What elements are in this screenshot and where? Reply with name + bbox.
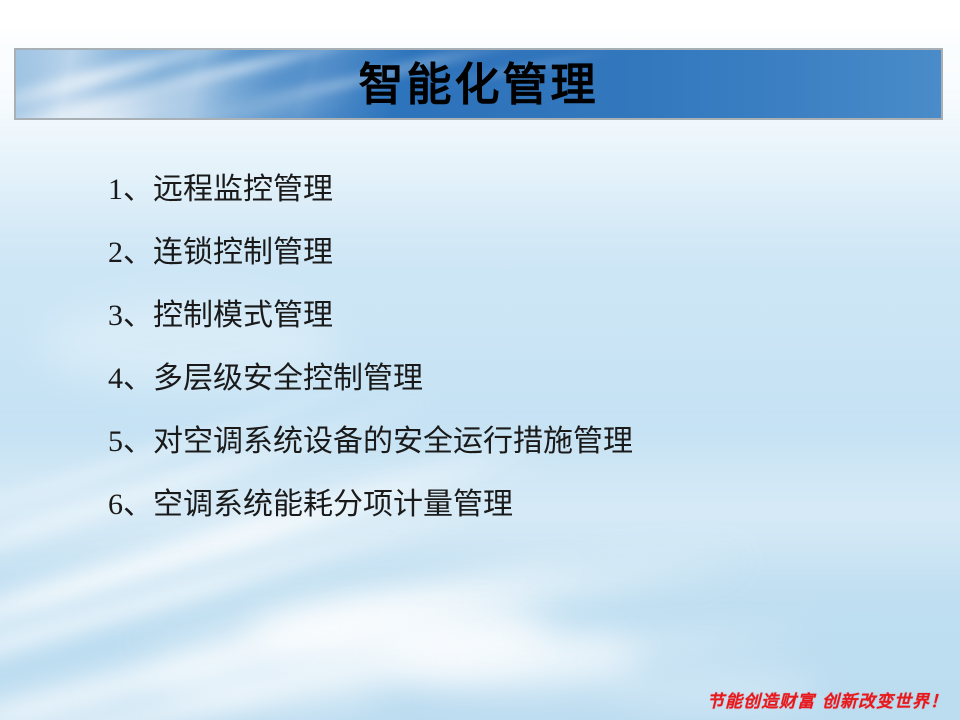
bullet-label: 控制模式管理 [153, 301, 333, 331]
bullet-item-1: 1、 远程监控管理 [108, 158, 928, 221]
bullet-item-6: 6、 空调系统能耗分项计量管理 [108, 473, 928, 536]
banner-cloud-streak [14, 48, 282, 120]
bullet-label: 对空调系统设备的安全运行措施管理 [153, 427, 633, 457]
bullet-number: 2、 [108, 238, 153, 268]
bullet-label: 空调系统能耗分项计量管理 [153, 490, 513, 520]
banner-cloud-streak [14, 74, 274, 120]
bullet-number: 6、 [108, 490, 153, 520]
bullet-number: 1、 [108, 175, 153, 205]
bullet-item-4: 4、 多层级安全控制管理 [108, 347, 928, 410]
bullet-list: 1、 远程监控管理 2、 连锁控制管理 3、 控制模式管理 4、 多层级安全控制… [108, 158, 928, 536]
bullet-label: 多层级安全控制管理 [153, 364, 423, 394]
bullet-item-3: 3、 控制模式管理 [108, 284, 928, 347]
slide-title-banner: 智能化管理 [14, 48, 943, 120]
bullet-number: 4、 [108, 364, 153, 394]
banner-cloud-streak [14, 48, 313, 120]
bullet-label: 远程监控管理 [153, 175, 333, 205]
banner-cloud-streak [14, 78, 365, 120]
footer-slogan: 节能创造财富 创新改变世界！ [707, 694, 948, 711]
bullet-number: 5、 [108, 427, 153, 457]
slide-title: 智能化管理 [358, 62, 598, 107]
banner-cloud-streak [138, 48, 393, 96]
bullet-label: 连锁控制管理 [153, 238, 333, 268]
bullet-number: 3、 [108, 301, 153, 331]
bullet-item-5: 5、 对空调系统设备的安全运行措施管理 [108, 410, 928, 473]
presentation-slide: 智能化管理 1、 远程监控管理 2、 连锁控制管理 3、 控制模式管理 4、 多… [0, 0, 960, 720]
bullet-item-2: 2、 连锁控制管理 [108, 221, 928, 284]
